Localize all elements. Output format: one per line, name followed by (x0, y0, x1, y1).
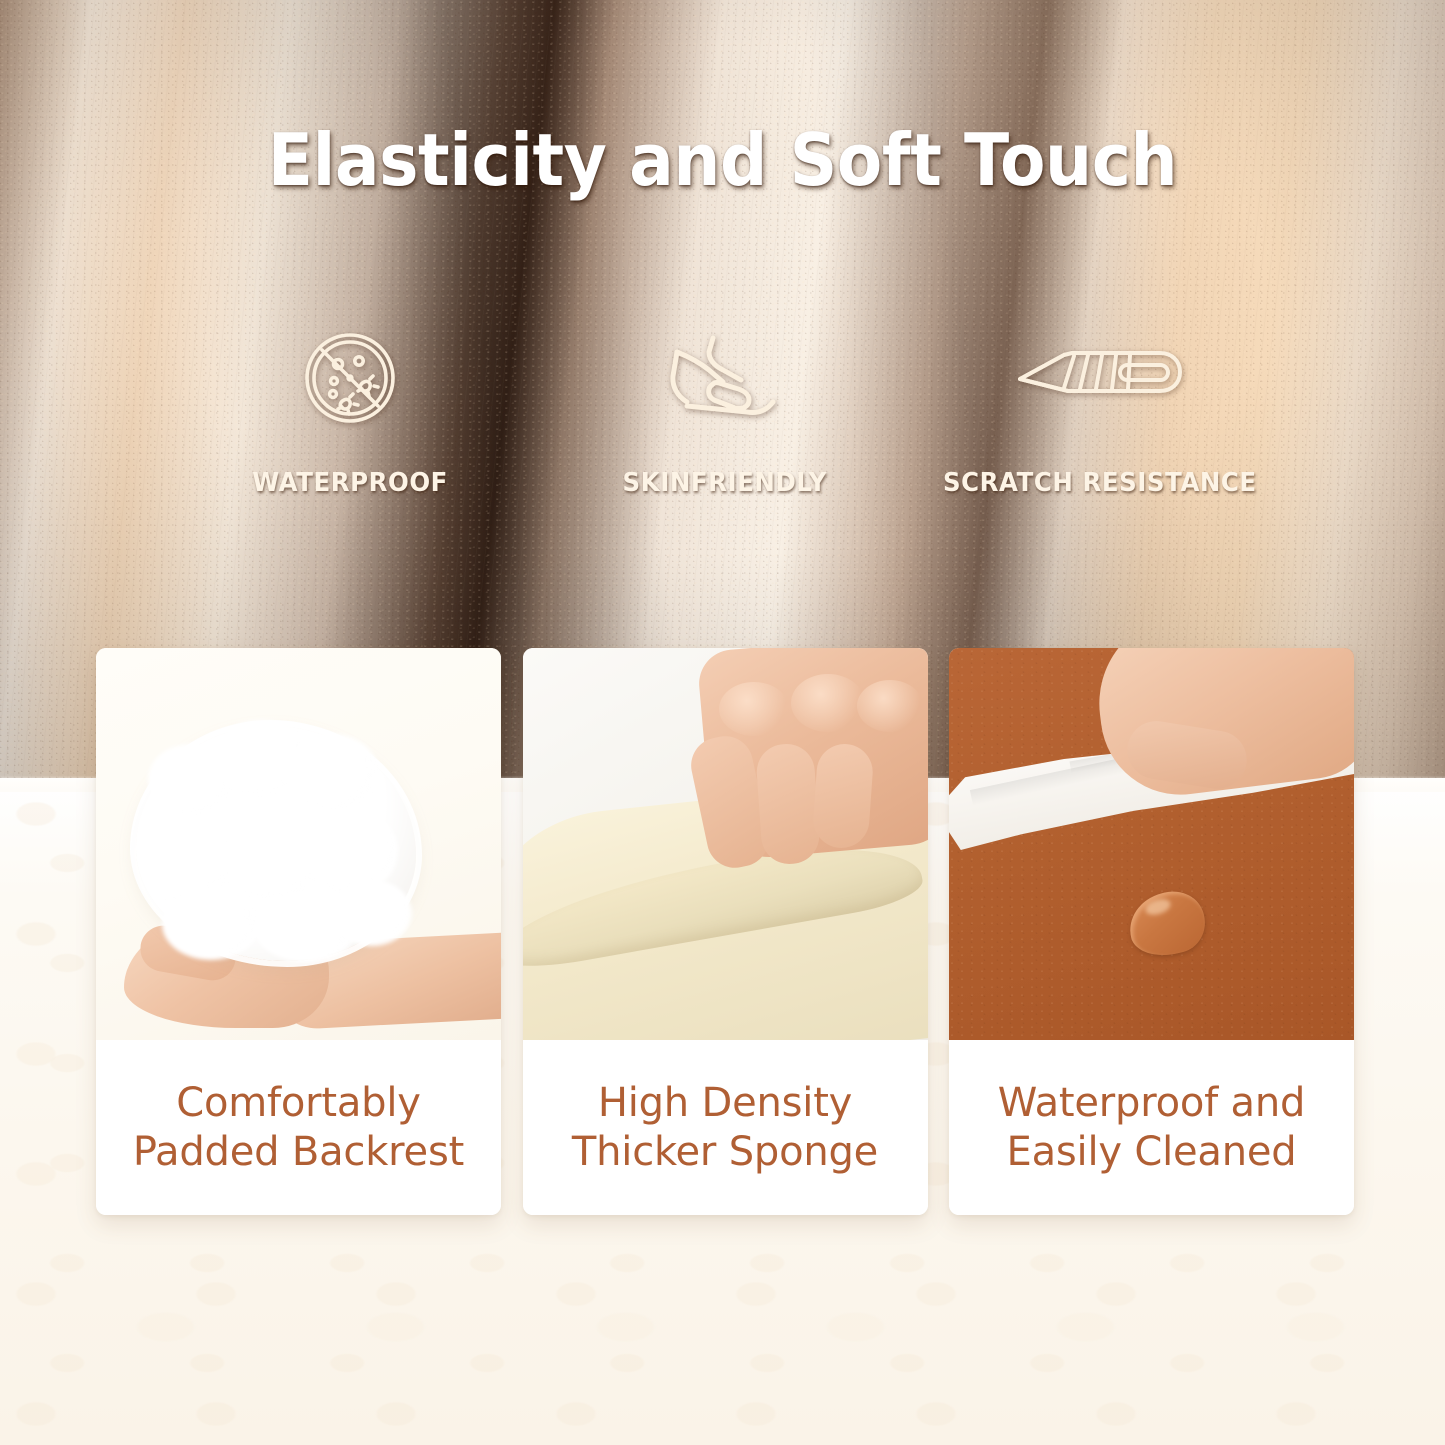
caption-line-2: Padded Backrest (133, 1128, 464, 1177)
caption-line-2: Thicker Sponge (572, 1128, 878, 1177)
hand-pressing-foam-sponge-photo (523, 648, 928, 1040)
feature-label: SCRATCH RESISTANCE (943, 468, 1257, 498)
feature-card-row: Comfortably Padded Backrest High Density (96, 648, 1354, 1215)
fiber-tuft (332, 880, 412, 946)
card-comfortably-padded-backrest[interactable]: Comfortably Padded Backrest (96, 648, 501, 1215)
feature-skinfriendly: SKINFRIENDLY (555, 330, 895, 498)
feature-scratch-resistance: SCRATCH RESISTANCE (930, 330, 1270, 498)
page-title: Elasticity and Soft Touch (58, 118, 1387, 202)
box-cutter-icon (1012, 330, 1188, 426)
fiber-tuft (286, 734, 378, 808)
caption-line-2: Easily Cleaned (1007, 1128, 1297, 1177)
feature-waterproof: WATERPROOF (180, 330, 520, 498)
feature-label: SKINFRIENDLY (623, 468, 827, 498)
caption-line-1: Waterproof and (998, 1079, 1305, 1128)
fiber-tuft (162, 888, 260, 960)
knuckle-highlight (719, 682, 789, 736)
wiping-spill-on-leather-photo (949, 648, 1354, 1040)
no-germs-icon (298, 330, 402, 426)
middle-finger (754, 742, 820, 866)
feature-icon-row: WATERPROOF SKINFRIENDLY (180, 330, 1270, 498)
hand-touch-icon (661, 330, 789, 426)
ring-finger (811, 742, 874, 850)
caption-line-1: High Density (598, 1079, 852, 1128)
knuckle-highlight (857, 680, 923, 732)
card-caption: High Density Thicker Sponge (523, 1040, 928, 1215)
feature-label: WATERPROOF (252, 468, 448, 498)
card-caption: Waterproof and Easily Cleaned (949, 1040, 1354, 1215)
knuckle-highlight (791, 674, 865, 732)
card-waterproof-easily-cleaned[interactable]: Waterproof and Easily Cleaned (949, 648, 1354, 1215)
hand-holding-fiber-fill-photo (96, 648, 501, 1040)
card-caption: Comfortably Padded Backrest (96, 1040, 501, 1215)
card-high-density-thicker-sponge[interactable]: High Density Thicker Sponge (523, 648, 928, 1215)
product-feature-banner: Elasticity and Soft Touch (0, 0, 1445, 1445)
caption-line-1: Comfortably (176, 1079, 421, 1128)
